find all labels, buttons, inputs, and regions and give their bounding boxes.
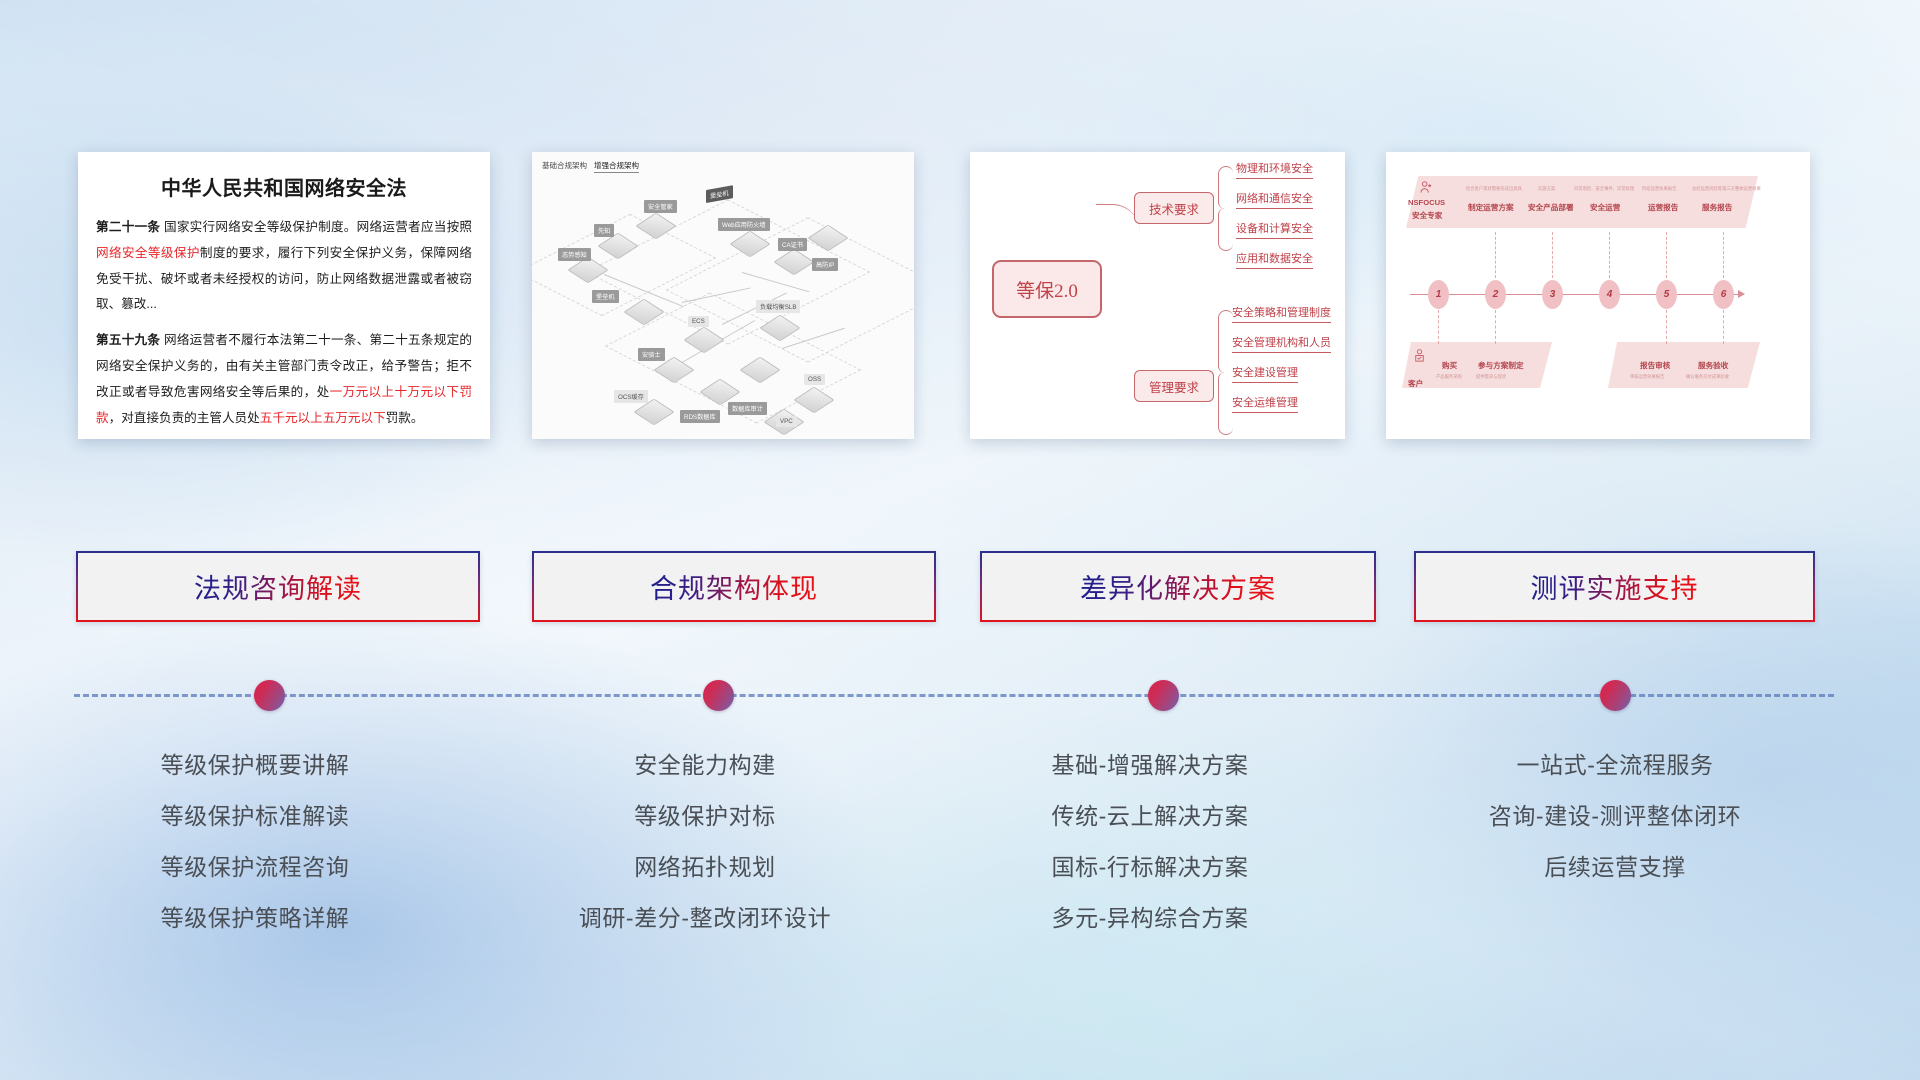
- list-item: 等级保护标准解读: [70, 791, 440, 842]
- arch-node-ocs: OCS缓存: [614, 390, 648, 403]
- nsfocus-marker-3: 3: [1542, 280, 1563, 309]
- law-title: 中华人民共和国网络安全法: [78, 172, 490, 201]
- card-nsfocus-timeline: NSFOCUS 安全专家 结合客户现状需要形成出具具 制定运营方案 实施方案 安…: [1386, 152, 1810, 439]
- expert-person-icon: [1418, 180, 1434, 196]
- list-item: 基础-增强解决方案: [965, 740, 1335, 791]
- nsfocus-marker-1: 1: [1428, 280, 1449, 309]
- nsfocus-top-sub-1: 结合客户现状需要形成出具具: [1466, 186, 1522, 192]
- nsfocus-top-title-4: 运营报告: [1648, 202, 1678, 213]
- arch-node-db-audit: 数据库审计: [728, 402, 767, 415]
- mindmap-canvas: 等保2.0 技术要求 管理要求 物理和环境安全 网络和通信安全 设备和计算安全 …: [970, 152, 1345, 439]
- banner-label-3: 差异化解决方案: [1080, 567, 1276, 606]
- architecture-tabs: 基础合规架构 增强合规架构: [542, 160, 639, 173]
- list-item: 国标-行标解决方案: [965, 842, 1335, 893]
- banner-compliance-architecture[interactable]: 合规架构体现: [532, 551, 936, 622]
- arch-node-anqishi: 安骑士: [638, 348, 665, 361]
- nsfocus-bottom-sub-4: 确认服务交付成果验收: [1686, 374, 1729, 380]
- nsfocus-tick-up-2: [1495, 232, 1496, 278]
- nsfocus-tick-up-4: [1609, 232, 1610, 278]
- nsfocus-bottom-sub-3: 审核运营效果报告: [1630, 374, 1664, 380]
- nsfocus-top-title-2: 安全产品部署: [1528, 202, 1574, 213]
- arch-node-situational-awareness: 态势感知: [558, 248, 591, 261]
- arch-node-oss: OSS: [804, 374, 825, 385]
- mindmap-branch-technical: 技术要求: [1134, 192, 1214, 224]
- banner-regulation-consulting[interactable]: 法规咨询解读: [76, 551, 480, 622]
- nsfocus-tick-dn-2: [1495, 310, 1496, 344]
- nsfocus-bottom-sub-2: 提供需求与现状: [1476, 374, 1506, 380]
- list-item: 咨询-建设-测评整体闭环: [1415, 791, 1815, 842]
- mindmap-leaf-org-personnel: 安全管理机构和人员: [1232, 334, 1331, 353]
- arch-node-slb: 负载均衡SLB: [756, 300, 800, 313]
- banner-label-2: 合规架构体现: [650, 567, 818, 606]
- arch-node-rds: RDS数据库: [680, 410, 720, 423]
- nsfocus-tick-up-5: [1666, 232, 1667, 278]
- arch-tab-enhanced: 增强合规架构: [594, 160, 639, 173]
- law-article-59: 第五十九条 网络运营者不履行本法第二十一条、第二十五条规定的网络安全保护义务的，…: [96, 328, 472, 431]
- nsfocus-top-sub-4: 阶段运营效果报告: [1642, 186, 1676, 192]
- nsfocus-axis-line: [1410, 294, 1740, 295]
- nsfocus-top-title-3: 安全运营: [1590, 202, 1620, 213]
- banner-differentiated-solution[interactable]: 差异化解决方案: [980, 551, 1376, 622]
- arch-node-antiddos: 高防IP: [812, 258, 838, 271]
- nsfocus-bottom-sub-1: 产品服务采购: [1436, 374, 1462, 380]
- nsfocus-bottom-title-3: 报告审核: [1640, 360, 1670, 371]
- mindmap-leaf-ops-mgmt: 安全运维管理: [1232, 394, 1298, 413]
- list-item: 网络拓扑规划: [520, 842, 890, 893]
- mindmap-fan-tech-1: [1218, 166, 1233, 209]
- law-article-21: 第二十一条 国家实行网络安全等级保护制度。网络运营者应当按照网络安全等级保护制度…: [96, 215, 472, 318]
- mindmap-leaf-construction-mgmt: 安全建设管理: [1232, 364, 1298, 383]
- nsfocus-tick-up-3: [1552, 232, 1553, 278]
- mindmap-branch-management: 管理要求: [1134, 370, 1214, 402]
- card-mindmap-dengbao: 等保2.0 技术要求 管理要求 物理和环境安全 网络和通信安全 设备和计算安全 …: [970, 152, 1345, 439]
- nsfocus-expert-label-1: NSFOCUS: [1408, 198, 1445, 207]
- arch-node-security-manager: 安全管家: [644, 200, 677, 213]
- nsfocus-tick-up-6: [1723, 232, 1724, 278]
- list-item: 后续运营支撑: [1415, 842, 1815, 893]
- nsfocus-axis-arrow-icon: [1738, 290, 1745, 298]
- nsfocus-top-title-1: 制定运营方案: [1468, 202, 1514, 213]
- arch-node-ca: CA证书: [778, 238, 807, 251]
- list-item: 等级保护对标: [520, 791, 890, 842]
- banner-assessment-support[interactable]: 测评实施支持: [1414, 551, 1815, 622]
- nsfocus-top-title-5: 服务报告: [1702, 202, 1732, 213]
- timeline-dashed-rail: [74, 694, 1834, 697]
- arch-node-xianzhi: 先知: [594, 224, 614, 237]
- mindmap-leaf-physical-env: 物理和环境安全: [1236, 160, 1313, 179]
- nsfocus-marker-2: 2: [1485, 280, 1506, 309]
- banner-label-4: 测评实施支持: [1531, 567, 1699, 606]
- nsfocus-tick-dn-5: [1666, 310, 1667, 344]
- card-cloud-architecture: 基础合规架构 增强合规架构: [532, 152, 914, 439]
- nsfocus-marker-6: 6: [1713, 280, 1734, 309]
- list-item: 等级保护流程咨询: [70, 842, 440, 893]
- list-item: 一站式-全流程服务: [1415, 740, 1815, 791]
- nsfocus-bottom-title-4: 服务验收: [1698, 360, 1728, 371]
- customer-person-icon: [1412, 348, 1427, 363]
- list-item: 传统-云上解决方案: [965, 791, 1335, 842]
- nsfocus-bottom-right-band: [1608, 342, 1760, 388]
- mindmap-leaf-network-comm: 网络和通信安全: [1236, 190, 1313, 209]
- bullet-column-3: 基础-增强解决方案 传统-云上解决方案 国标-行标解决方案 多元-异构综合方案: [965, 740, 1335, 944]
- arch-node-ecs: ECS: [688, 316, 709, 327]
- arch-node-vpc: VPC: [776, 416, 797, 427]
- nsfocus-bottom-title-2: 参与方案制定: [1478, 360, 1524, 371]
- bullet-column-4: 一站式-全流程服务 咨询-建设-测评整体闭环 后续运营支撑: [1415, 740, 1815, 893]
- law-article-21-highlight: 网络安全等级保护: [96, 246, 200, 260]
- nsfocus-top-sub-3: 日常巡检、安全事件、异常处理: [1574, 186, 1634, 192]
- law-article-21-label: 第二十一条: [96, 220, 160, 234]
- nsfocus-tick-dn-6: [1723, 310, 1724, 344]
- mindmap-root-node: 等保2.0: [992, 260, 1102, 318]
- mindmap-fan-mgmt-1: [1218, 310, 1233, 373]
- mindmap-fan-tech-2: [1218, 208, 1233, 251]
- bullet-column-2: 安全能力构建 等级保护对标 网络拓扑规划 调研-差分-整改闭环设计: [520, 740, 890, 944]
- nsfocus-canvas: NSFOCUS 安全专家 结合客户现状需要形成出具具 制定运营方案 实施方案 安…: [1386, 152, 1810, 439]
- nsfocus-bottom-title-1: 购买: [1442, 360, 1457, 371]
- nsfocus-top-sub-2: 实施方案: [1538, 186, 1555, 192]
- nsfocus-marker-5: 5: [1656, 280, 1677, 309]
- mindmap-leaf-policy-system: 安全策略和管理制度: [1232, 304, 1331, 323]
- timeline-dot-3: [1148, 680, 1179, 711]
- list-item: 等级保护策略详解: [70, 893, 440, 944]
- timeline-dot-2: [703, 680, 734, 711]
- mindmap-leaf-device-compute: 设备和计算安全: [1236, 220, 1313, 239]
- law-article-59-text-b: ，对直接负责的主管人员处: [109, 411, 260, 425]
- list-item: 安全能力构建: [520, 740, 890, 791]
- law-article-59-highlight-b: 五千元以上五万元以下: [260, 411, 386, 425]
- law-article-59-text-c: 罚款。: [386, 411, 424, 425]
- nsfocus-top-sub-5: 总结运营风险等第三方整体运营效果: [1692, 186, 1761, 192]
- nsfocus-customer-label: 客户: [1408, 378, 1423, 389]
- law-article-59-label: 第五十九条: [96, 333, 160, 347]
- timeline-dot-4: [1600, 680, 1631, 711]
- mindmap-leaf-app-data: 应用和数据安全: [1236, 250, 1313, 269]
- law-article-21-text-a: 国家实行网络安全等级保护制度。网络运营者应当按照: [160, 220, 472, 234]
- architecture-canvas: 基础合规架构 增强合规架构: [532, 152, 914, 439]
- card-cybersecurity-law: 中华人民共和国网络安全法 第二十一条 国家实行网络安全等级保护制度。网络运营者应…: [78, 152, 490, 439]
- list-item: 多元-异构综合方案: [965, 893, 1335, 944]
- nsfocus-marker-4: 4: [1599, 280, 1620, 309]
- nsfocus-expert-label-2: 安全专家: [1412, 210, 1442, 221]
- nsfocus-tick-dn-1: [1438, 310, 1439, 344]
- arch-node-bastion: 堡垒机: [592, 290, 619, 303]
- list-item: 等级保护概要讲解: [70, 740, 440, 791]
- arch-tab-basic: 基础合规架构: [542, 160, 587, 173]
- arch-node-waf: Web应用防火墙: [718, 218, 770, 231]
- timeline-dot-1: [254, 680, 285, 711]
- bullet-column-1: 等级保护概要讲解 等级保护标准解读 等级保护流程咨询 等级保护策略详解: [70, 740, 440, 944]
- list-item: 调研-差分-整改闭环设计: [520, 893, 890, 944]
- mindmap-fan-mgmt-2: [1218, 372, 1233, 435]
- banner-label-1: 法规咨询解读: [194, 567, 362, 606]
